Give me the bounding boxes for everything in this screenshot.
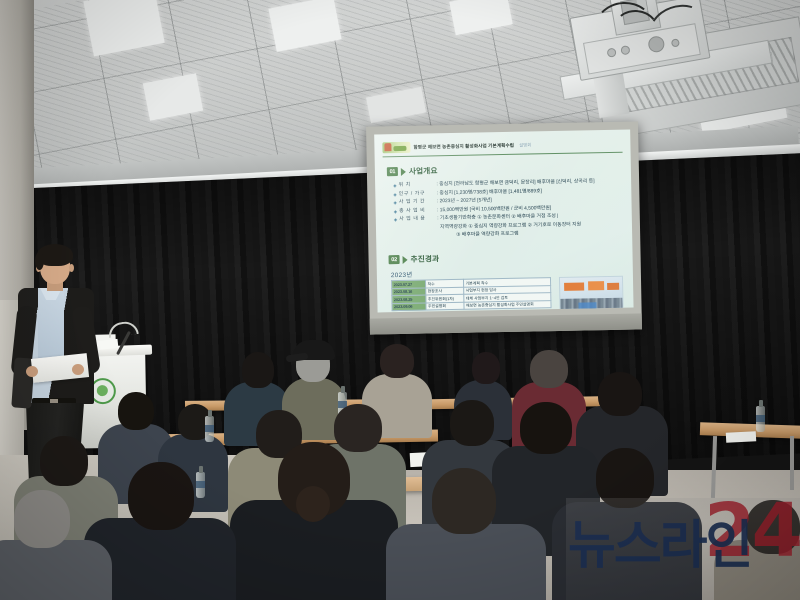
section-arrow-icon: [401, 167, 406, 175]
paper-on-table: [726, 431, 756, 443]
bullet-icon: ◈: [393, 182, 397, 191]
hair-bun: [296, 486, 330, 522]
table-row: 2023.09.06 주민설명회 해보면 농촌중심지 활성화사업 주민설명회: [392, 300, 551, 311]
slide-header-title: 함평군 해보면 농촌중심지 활성화사업 기본계획수립: [413, 142, 514, 150]
projected-slide: 함평군 해보면 농촌중심지 활성화사업 기본계획수립 설명회 01 사업개요 ◈…: [374, 130, 633, 313]
section-number: 02: [389, 255, 400, 264]
meeting-photo-thumbnail: [559, 276, 624, 313]
village-logo-icon: [382, 142, 410, 154]
audience-head: [14, 490, 70, 548]
section-number: 01: [387, 167, 398, 176]
bullet-icon: ◈: [394, 208, 398, 217]
photo-table: [578, 302, 596, 309]
presenter-ear: [69, 264, 74, 272]
audience-body: [386, 524, 546, 600]
table-cell-type: 주민설명회: [426, 302, 464, 310]
bullet-icon: ◈: [394, 216, 398, 225]
bullet-icon: ◈: [393, 191, 397, 200]
audience-head: [432, 468, 496, 534]
projection-screen: 함평군 해보면 농촌중심지 활성화사업 기본계획수립 설명회 01 사업개요 ◈…: [366, 121, 642, 334]
audience-head: [530, 350, 568, 388]
bullet-label: 사 업 내 용: [399, 216, 437, 225]
audience-head: [380, 344, 414, 378]
audience-body: [0, 540, 112, 600]
photo-banner: [607, 283, 619, 290]
audience-head: [40, 436, 88, 486]
audience-head: [450, 400, 494, 446]
photo-banner: [588, 281, 604, 290]
presenter-hand: [72, 364, 84, 375]
slide-section-01: 01 사업개요: [387, 165, 438, 177]
audience-body: [552, 502, 702, 600]
progress-year-label: 2023년: [391, 270, 413, 279]
progress-table: 2023.07.27 착수 기본계획 착수 2023.08.16 현장조사 사업…: [391, 277, 552, 311]
section-label: 추진경과: [410, 253, 439, 265]
audience-head: [472, 352, 500, 384]
presenter-hair-side: [35, 252, 44, 270]
audience-head: [598, 372, 642, 416]
table-cell-detail: 해보면 농촌중심지 활성화사업 주민설명회: [464, 300, 551, 309]
slide-header-suffix: 설명회: [519, 142, 531, 148]
audience-head: [128, 462, 194, 530]
presenter-hand: [26, 366, 38, 377]
audience-head: [242, 352, 274, 388]
water-bottle: [205, 416, 214, 442]
section-label: 사업개요: [409, 165, 438, 177]
bullet-icon: ◈: [393, 199, 397, 208]
table-leg: [790, 436, 794, 490]
water-bottle: [196, 472, 205, 498]
presentation-room-photo: 함평군 해보면 농촌중심지 활성화사업 기본계획수립 설명회 01 사업개요 ◈…: [0, 0, 800, 600]
photo-banner: [564, 282, 584, 290]
audience-head: [334, 404, 382, 452]
audience-head: [596, 448, 654, 508]
overview-bullet-list: ◈ 위 치 : 중심지 [전라남도 함평군 해보면 금덕리, 문장리] 배후마을…: [393, 178, 624, 242]
section-arrow-icon: [403, 255, 408, 263]
water-bottle: [756, 406, 765, 432]
slide-section-02: 02 추진경과: [388, 253, 439, 265]
table-cell-date: 2023.09.06: [392, 303, 426, 311]
audience-head: [520, 402, 572, 454]
audience-head: [746, 500, 800, 554]
audience-head: [118, 392, 154, 430]
